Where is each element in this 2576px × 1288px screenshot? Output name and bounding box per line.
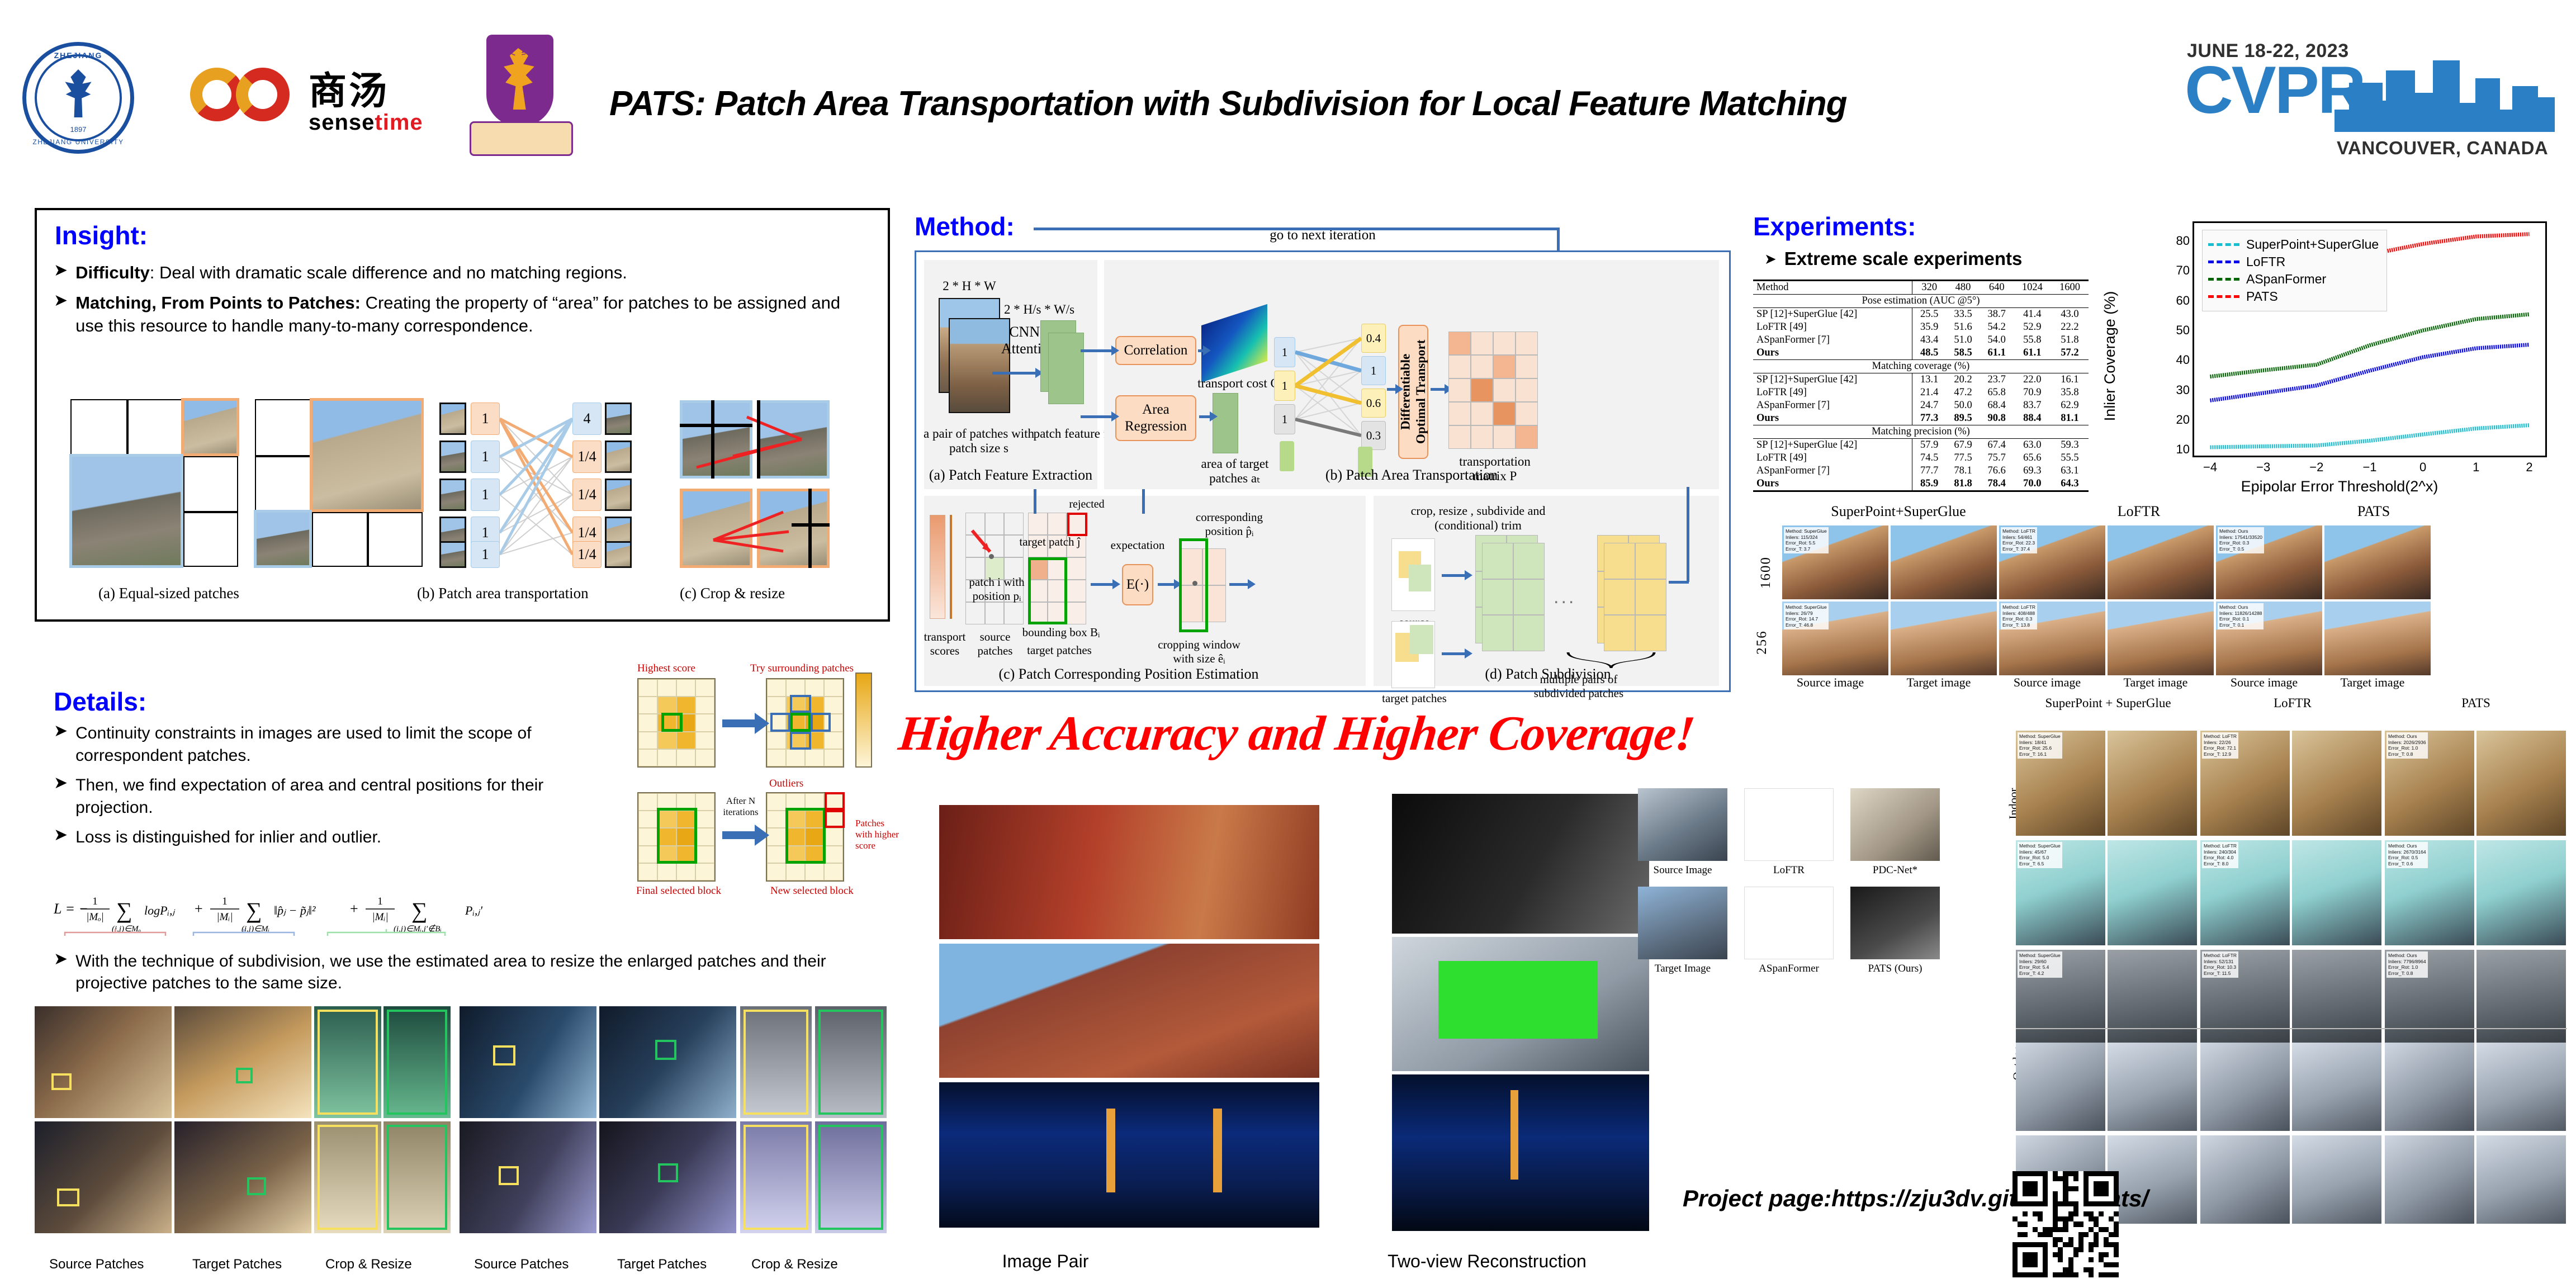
label-after-n-iterations: After N iterations: [721, 795, 760, 818]
table-row: SP [12]+SuperGlue [42]57.967.967.463.059…: [1753, 439, 2089, 452]
corresponding-position-label: corresponding position p̂ᵢ: [1179, 510, 1280, 538]
mini-caption: PATS (Ours): [1850, 963, 1940, 975]
label-highest-score: Highest score: [637, 662, 695, 675]
meta-error-rot: Error_Rot: 0.3: [2219, 540, 2262, 546]
method-caption-b: (b) Patch Area Transportation: [1104, 467, 1719, 484]
method-cell: Ours: [1753, 347, 1912, 360]
legend-swatch: [2208, 278, 2239, 281]
chart-y-axis-label: Inlier Coverage (%): [2101, 291, 2119, 422]
value-cell: 85.9: [1912, 477, 1947, 491]
io-image-cell: [2292, 840, 2381, 945]
meta-error-rot: Error_Rot: 5.0: [2019, 855, 2061, 861]
meta-inliers: Inliers: 54/461: [2002, 534, 2035, 541]
io-image-cell: [2108, 950, 2197, 1055]
method-cell: ASpanFormer [7]: [1753, 334, 1912, 347]
score-axis-arrow: [950, 515, 952, 619]
strip-caption: Target Patches: [192, 1257, 282, 1272]
insight-bullet-list: ➤ Difficulty: Deal with dramatic scale d…: [54, 262, 870, 345]
svg-text:+: +: [350, 901, 358, 917]
meta-inliers: Inliers: 29/60: [2019, 959, 2061, 965]
qual-image-cell: Method: LoFTRInliers: 408/488Error_Rot: …: [1999, 602, 2105, 675]
reconstruction-image: [1392, 937, 1649, 1071]
label-patches-higher-score: Patches with higher score: [855, 818, 900, 851]
method-meta-tag: Method: SuperGlueInliers: 115/324Error_R…: [1784, 527, 1829, 553]
pair-label: Target image: [2108, 675, 2204, 690]
sensetime-chinese-name: 商汤: [309, 60, 389, 115]
value-cell: 76.6: [1980, 465, 2014, 477]
io-image-cell: Method: SuperGlueInliers: 18/41Error_Rot…: [2016, 731, 2105, 836]
meta-error-rot: Error_Rot: 10.3: [2204, 964, 2237, 970]
meta-error-t: Error_T: 3.7: [1786, 546, 1827, 552]
bounding-box-label: bounding box Bᵢ: [1019, 626, 1103, 640]
meta-error-rot: Error_Rot: 1.0: [2388, 745, 2426, 751]
correlation-box: Correlation: [1115, 336, 1196, 365]
value-cell: 51.8: [2051, 334, 2089, 347]
io-image-cell: [2292, 1135, 2381, 1224]
value-cell: 13.1: [1912, 373, 1947, 387]
crop-resize-source: [680, 400, 752, 479]
value-cell: 33.5: [1946, 308, 1980, 321]
insight-bullet-lead: Difficulty: [75, 263, 150, 282]
strip-caption: Crop & Resize: [751, 1257, 838, 1272]
value-cell: 55.5: [2051, 452, 2089, 465]
svg-text:|Mₒ|: |Mₒ|: [86, 911, 104, 923]
method-cell: Ours: [1753, 477, 1912, 491]
expectation-label: expectation: [1104, 538, 1171, 552]
meta-method: Method: Ours: [2388, 733, 2426, 740]
qual-row-header: 1600: [1758, 556, 1774, 589]
io-image-cell: [2476, 731, 2566, 836]
value-cell: 43.0: [2051, 308, 2089, 321]
method-cell: LoFTR [49]: [1753, 386, 1912, 399]
meta-error-t: Error_T: 0.1: [2219, 622, 2262, 628]
chart-y-tick: 50: [2176, 323, 2190, 338]
svg-text:∑: ∑: [246, 898, 262, 923]
label-final-selected-block: Final selected block: [636, 885, 721, 897]
value-cell: 68.4: [1980, 399, 2014, 412]
strip-image: [383, 1006, 451, 1118]
pair-label: Source image: [1782, 675, 1878, 690]
table-group-header: Pose estimation (AUC @5°): [1753, 295, 2089, 308]
io-col-header: LoFTR: [2200, 696, 2385, 711]
meta-method: Method: Ours: [2219, 528, 2262, 534]
pair-label: Source image: [1999, 675, 2095, 690]
value-cell: 35.8: [2051, 386, 2089, 399]
strip-image: [740, 1121, 812, 1233]
column-header: 480: [1946, 281, 1980, 295]
mini-comparison-grid: Source Image LoFTR PDC-Net* Target Image…: [1638, 788, 1973, 1180]
qual-col-header: SuperPoint+SuperGlue: [1787, 503, 2010, 520]
legend-swatch: [2208, 243, 2239, 246]
chart-series-2: [2210, 314, 2530, 376]
dim-input-label: 2 * H * W: [933, 279, 1006, 293]
meta-error-t: Error_T: 46.8: [1786, 622, 1827, 628]
cropping-window-label: cropping window with size êᵢ: [1149, 638, 1249, 666]
selected-cell-highlight: [661, 713, 683, 732]
caption-image-pair: Image Pair: [939, 1251, 1152, 1272]
meta-error-t: Error_T: 0.8: [2388, 751, 2426, 757]
io-image-cell: [2108, 731, 2197, 836]
method-cell: ASpanFormer [7]: [1753, 399, 1912, 412]
experiments-heading: Experiments:: [1753, 211, 1916, 241]
method-caption-a: (a) Patch Feature Extraction: [924, 467, 1097, 484]
value-cell: 22.2: [2051, 321, 2089, 334]
value-cell: 88.4: [2014, 412, 2051, 425]
target-patches-label-d: target patches: [1381, 692, 1447, 705]
meta-inliers: Inliers: 22/26: [2204, 740, 2237, 746]
details-bullet-text: Continuity constraints in images are use…: [75, 722, 613, 766]
table-row: LoFTR [49]21.447.265.870.935.8: [1753, 386, 2089, 399]
qual-image-cell: [2108, 602, 2214, 675]
value-cell: 35.9: [1912, 321, 1947, 334]
zju-logo-top-text: ZHEJIANG: [22, 51, 134, 60]
legend-label: PATS: [2246, 289, 2278, 304]
mini-image: [1744, 887, 1834, 959]
io-image-cell: Method: LoFTRInliers: 52/131Error_Rot: 1…: [2200, 950, 2290, 1055]
bounding-box-highlight: [1028, 557, 1067, 624]
meta-method: Method: SuperGlue: [2019, 953, 2061, 959]
transport-node: 1/4: [572, 479, 602, 511]
pair-label: Source image: [2216, 675, 2312, 690]
meta-error-rot: Error_Rot: 5.5: [1786, 540, 1827, 546]
meta-method: Method: SuperGlue: [1786, 528, 1827, 534]
mini-caption: Source Image: [1638, 864, 1727, 877]
value-cell: 43.4: [1912, 334, 1947, 347]
strip-image: [174, 1006, 311, 1118]
table-row: ASpanFormer [7]77.778.176.669.363.1: [1753, 465, 2089, 477]
qr-code[interactable]: [2012, 1171, 2119, 1277]
details-grid-figure: Highest score Try surrounding patches Ou…: [632, 668, 894, 886]
meta-inliers: Inliers: 11826/14288: [2219, 610, 2262, 617]
caption-two-view-reconstruction: Two-view Reconstruction: [1303, 1251, 1671, 1272]
expectation-operator-box: E(·): [1122, 564, 1153, 605]
qual-image-cell: [1891, 525, 1997, 599]
method-meta-tag: Method: SuperGlueInliers: 29/60Error_Rot…: [2018, 951, 2062, 978]
value-cell: 77.3: [1912, 412, 1947, 425]
method-node: 0.3: [1361, 421, 1386, 450]
method-meta-tag: Method: OursInliers: 2670/3164Error_Rot:…: [2386, 842, 2428, 868]
value-cell: 65.8: [1980, 386, 2014, 399]
qual-row-header: 256: [1754, 630, 1770, 655]
chart-y-tick: 10: [2176, 442, 2190, 457]
patch-thumbnail: [181, 398, 239, 456]
strip-image: [174, 1121, 311, 1233]
mini-image: [1638, 887, 1727, 959]
meta-inliers: Inliers: 240/304: [2204, 849, 2237, 855]
insight-section: Insight: ➤ Difficulty: Deal with dramati…: [35, 208, 890, 622]
meta-method: Method: LoFTR: [2204, 843, 2237, 849]
list-item: ➤ Difficulty: Deal with dramatic scale d…: [54, 262, 870, 284]
value-cell: 51.0: [1946, 334, 1980, 347]
chart-y-tick: 70: [2176, 263, 2190, 278]
value-cell: 81.1: [2051, 412, 2089, 425]
label-try-surrounding: Try surrounding patches: [750, 662, 854, 675]
details-bullet-text: Then, we find expectation of area and ce…: [75, 774, 613, 818]
page-title: PATS: Patch Area Transportation with Sub…: [609, 84, 2141, 124]
qual-image-cell: Method: OursInliers: 17541/33520Error_Ro…: [2216, 525, 2322, 599]
strip-caption: Crop & Resize: [325, 1257, 412, 1272]
transport-cost-label: transport cost C: [1194, 376, 1283, 391]
cvpr-city: VANCOUVER, CANADA: [2337, 138, 2548, 159]
arrow-bullet-icon: ➤: [54, 826, 68, 844]
group-title: Matching coverage (%): [1753, 360, 2089, 373]
method-meta-tag: Method: OursInliers: 7796/8964Error_Rot:…: [2386, 951, 2428, 978]
legend-label: LoFTR: [2246, 254, 2285, 269]
showcase-image: [939, 805, 1319, 939]
patch-thumbnail: [310, 398, 424, 512]
strip-image: [383, 1121, 451, 1233]
qual-image-cell: [2108, 525, 2214, 599]
method-meta-tag: Method: SuperGlueInliers: 26/79Error_Rot…: [1784, 603, 1829, 629]
column-header: 640: [1980, 281, 2014, 295]
insight-heading: Insight:: [55, 220, 148, 250]
method-bipartite-links: [1295, 324, 1361, 452]
io-image-cell: [2108, 840, 2197, 945]
legend-item: ASpanFormer: [2208, 272, 2379, 287]
value-cell: 41.4: [2014, 308, 2051, 321]
patch-feature-label: patch feature f: [1031, 427, 1110, 441]
meta-method: Method: LoFTR: [2204, 953, 2237, 959]
legend-label: ASpanFormer: [2246, 272, 2326, 287]
io-image-cell: [2476, 840, 2566, 945]
cvpr-logo: JUNE 18-22, 2023 CVPR VANCOUVER, CANADA: [2185, 34, 2565, 162]
method-meta-tag: Method: LoFTRInliers: 408/488Error_Rot: …: [2001, 603, 2037, 629]
value-cell: 57.2: [2051, 347, 2089, 360]
meta-error-rot: Error_Rot: 1.0: [2388, 964, 2426, 970]
meta-error-t: Error_T: 0.5: [2219, 546, 2262, 552]
value-cell: 90.8: [1980, 412, 2014, 425]
arrow-bullet-icon: ➤: [54, 950, 68, 968]
value-cell: 20.2: [1946, 373, 1980, 387]
score-colorbar: [855, 673, 872, 768]
indoor-outdoor-panel: SuperPoint + SuperGlue LoFTR PATS Indoor…: [2016, 696, 2567, 1230]
method-node: 1: [1274, 337, 1295, 367]
method-cell: SP [12]+SuperGlue [42]: [1753, 308, 1912, 321]
strip-image: [599, 1121, 736, 1233]
rejected-label: rejected: [1062, 498, 1112, 511]
value-cell: 47.2: [1946, 386, 1980, 399]
value-cell: 89.5: [1946, 412, 1980, 425]
value-cell: 48.5: [1912, 347, 1947, 360]
io-image-cell: [2108, 1043, 2197, 1131]
patch-pair-label: a pair of patches with patch size s: [923, 427, 1035, 456]
patch-thumbnail: [69, 454, 183, 568]
chart-x-tick: −1: [2362, 460, 2376, 475]
value-cell: 65.6: [2014, 452, 2051, 465]
mini-caption: ASpanFormer: [1744, 963, 1834, 975]
method-node: 0.6: [1361, 389, 1386, 418]
method-node: 1: [1274, 371, 1295, 401]
mini-image: [1744, 788, 1834, 861]
svg-text:+: +: [195, 901, 203, 917]
value-cell: 57.9: [1912, 439, 1947, 452]
details-heading: Details:: [54, 686, 146, 717]
value-cell: 81.8: [1946, 477, 1980, 491]
value-cell: 22.0: [2014, 373, 2051, 387]
method-diagram: go to next iteration 2 * H * W 2 * H/s *…: [915, 250, 1731, 692]
value-cell: 67.9: [1946, 439, 1980, 452]
value-cell: 23.7: [1980, 373, 2014, 387]
meta-error-rot: Error_Rot: 4.0: [2204, 855, 2237, 861]
chart-x-tick: −3: [2256, 460, 2270, 475]
method-meta-tag: Method: LoFTRInliers: 22/26Error_Rot: 72…: [2202, 732, 2238, 759]
meta-method: Method: SuperGlue: [2019, 733, 2061, 740]
insight-bullet-text: : Deal with dramatic scale difference an…: [150, 263, 627, 282]
reconstruction-image: [1392, 794, 1649, 934]
arrow-bullet-icon: ➤: [54, 292, 68, 310]
strip-image: [314, 1006, 381, 1118]
meta-error-rot: Error_Rot: 22.3: [2002, 540, 2035, 546]
strip-caption: Source Patches: [49, 1257, 144, 1272]
svg-text:1: 1: [222, 896, 228, 907]
meta-inliers: Inliers: 17541/33520: [2219, 534, 2262, 541]
chart-plot-area: 1020304050607080−4−3−2−1012 SuperPoint+S…: [2193, 221, 2547, 457]
red-pointer-icon: [970, 528, 995, 556]
label-outliers: Outliers: [769, 778, 803, 790]
value-cell: 25.5: [1912, 308, 1947, 321]
cuhk-logo: 博文约礼: [470, 35, 573, 160]
crop-resize-source: [680, 489, 752, 568]
value-cell: 67.4: [1980, 439, 2014, 452]
value-cell: 70.0: [2014, 477, 2051, 491]
value-cell: 51.6: [1946, 321, 1980, 334]
meta-method: Method: Ours: [2219, 604, 2262, 610]
value-cell: 61.1: [1980, 347, 2014, 360]
transport-node: 1: [471, 441, 500, 473]
meta-inliers: Inliers: 408/488: [2002, 610, 2035, 617]
sensetime-logo: 商汤 sensetime: [190, 59, 442, 143]
mini-caption: PDC-Net*: [1850, 864, 1940, 877]
value-cell: 74.5: [1912, 452, 1947, 465]
source-patch-box: [1391, 538, 1435, 611]
meta-error-t: Error_T: 37.4: [2002, 546, 2035, 552]
legend-item: SuperPoint+SuperGlue: [2208, 237, 2379, 252]
chart-x-tick: 1: [2473, 460, 2479, 475]
method-cell: ASpanFormer [7]: [1753, 465, 1912, 477]
dim-output-label: 2 * H/s * W/s: [1000, 302, 1078, 317]
group-title: Pose estimation (AUC @5°): [1753, 295, 2089, 308]
value-cell: 52.9: [2014, 321, 2051, 334]
qual-image-cell: Method: SuperGlueInliers: 115/324Error_R…: [1782, 525, 1888, 599]
meta-method: Method: LoFTR: [2002, 604, 2035, 610]
meta-inliers: Inliers: 45/67: [2019, 849, 2061, 855]
meta-error-t: Error_T: 0.8: [2388, 970, 2426, 977]
cuhk-motto: 博文约礼: [470, 44, 573, 58]
reconstruction-image: [1392, 1074, 1649, 1231]
qual-image-cell: [1891, 602, 1997, 675]
io-image-cell: [2385, 1135, 2474, 1224]
io-image-cell: Method: OursInliers: 2026/2936Error_Rot:…: [2385, 731, 2474, 836]
transport-scores-bar: [930, 515, 945, 619]
experiments-subheading-row: ➤ Extreme scale experiments: [1764, 248, 2022, 269]
infinity-icon: [190, 62, 305, 124]
meta-inliers: Inliers: 7796/8964: [2388, 959, 2426, 965]
qualitative-comparison-grid: SuperPoint+SuperGlue LoFTR PATS 1600 256…: [1753, 503, 2569, 693]
meta-inliers: Inliers: 2026/2936: [2388, 740, 2426, 746]
table-group-header: Matching coverage (%): [1753, 360, 2089, 373]
legend-swatch: [2208, 295, 2239, 298]
sensetime-english-name: sensetime: [309, 110, 423, 135]
arrow-bullet-icon: ➤: [54, 262, 68, 280]
transport-node: 4: [572, 402, 602, 435]
experiments-subheading: Extreme scale experiments: [1784, 248, 2023, 269]
crop-resize-label: crop, resize , subdivide and (conditiona…: [1386, 504, 1570, 533]
source-patches-label-c: source patches: [964, 630, 1026, 658]
list-item: ➤ With the technique of subdivision, we …: [54, 950, 859, 994]
column-header: 320: [1912, 281, 1947, 295]
method-meta-tag: Method: LoFTRInliers: 52/131Error_Rot: 1…: [2202, 951, 2238, 978]
value-cell: 54.2: [1980, 321, 2014, 334]
strip-image: [35, 1121, 172, 1233]
table-row: LoFTR [49]74.577.575.765.655.5: [1753, 452, 2089, 465]
mini-caption: Target Image: [1638, 963, 1727, 975]
value-cell: 59.3: [2051, 439, 2089, 452]
strip-image: [599, 1006, 736, 1118]
legend-swatch: [2208, 261, 2239, 263]
table-row: Ours48.558.561.161.157.2: [1753, 347, 2089, 360]
meta-inliers: Inliers: 18/41: [2019, 740, 2061, 746]
table-row: Ours85.981.878.470.064.3: [1753, 477, 2089, 491]
meta-method: Method: LoFTR: [2204, 733, 2237, 740]
table-row: ASpanFormer [7]24.750.068.483.762.9: [1753, 399, 2089, 412]
legend-item: LoFTR: [2208, 254, 2379, 269]
chart-x-tick: −4: [2203, 460, 2217, 475]
showcase-image: [939, 944, 1319, 1078]
value-cell: 77.7: [1912, 465, 1947, 477]
method-cell: LoFTR [49]: [1753, 452, 1912, 465]
meta-error-t: Error_T: 8.0: [2204, 861, 2237, 867]
column-header: Method: [1753, 281, 1912, 295]
table-group-header: Matching precision (%): [1753, 425, 2089, 439]
value-cell: 70.9: [2014, 386, 2051, 399]
chart-series-0: [2210, 425, 2530, 447]
transport-scores-label: transport scores: [920, 630, 970, 658]
strip-image: [815, 1121, 887, 1233]
strip-image: [740, 1006, 812, 1118]
svg-text:logPᵢ,ⱼ: logPᵢ,ⱼ: [144, 903, 176, 917]
target-patches-label-c: target patches: [1026, 643, 1093, 657]
value-cell: 21.4: [1912, 386, 1947, 399]
meta-inliers: Inliers: 52/131: [2204, 959, 2237, 965]
inlier-coverage-chart: Inlier Coverage (%) Epipolar Error Thres…: [2119, 214, 2560, 499]
chart-y-tick: 20: [2176, 413, 2190, 427]
meta-error-t: Error_T: 16.1: [2019, 751, 2061, 757]
value-cell: 55.8: [2014, 334, 2051, 347]
method-meta-tag: Method: OursInliers: 2026/2936Error_Rot:…: [2386, 732, 2428, 759]
column-header: 1024: [2014, 281, 2051, 295]
value-cell: 75.7: [1980, 452, 2014, 465]
meta-error-t: Error_T: 12.9: [2204, 751, 2237, 757]
table-header-row: Method32048064010241600: [1753, 281, 2089, 295]
table-row: ASpanFormer [7]43.451.054.055.851.8: [1753, 334, 2089, 347]
method-cell: LoFTR [49]: [1753, 321, 1912, 334]
meta-method: Method: SuperGlue: [1786, 604, 1827, 610]
io-col-header: SuperPoint + SuperGlue: [2016, 696, 2200, 711]
column-header: 1600: [2051, 281, 2089, 295]
io-image-cell: [2476, 1043, 2566, 1131]
meta-error-rot: Error_Rot: 5.4: [2019, 964, 2061, 970]
chart-y-tick: 80: [2176, 234, 2190, 248]
arrow-right-icon: [722, 719, 757, 727]
label-new-selected-block: New selected block: [770, 885, 854, 897]
io-image-cell: [2200, 1135, 2290, 1224]
meta-error-rot: Error_Rot: 0.3: [2002, 616, 2035, 622]
value-cell: 24.7: [1912, 399, 1947, 412]
method-meta-tag: Method: OursInliers: 17541/33520Error_Ro…: [2218, 527, 2264, 553]
qual-col-header: PATS: [2290, 503, 2457, 520]
chart-series-1: [2210, 345, 2530, 401]
io-image-cell: Method: OursInliers: 7796/8964Error_Rot:…: [2385, 950, 2474, 1055]
